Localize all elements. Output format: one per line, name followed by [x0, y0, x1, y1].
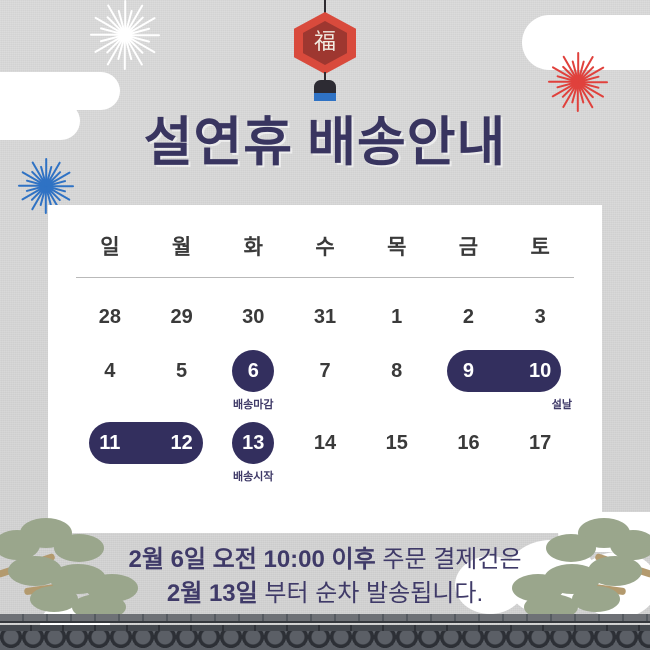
calendar-day-number: 9 [463, 360, 474, 383]
starburst-ray [124, 35, 126, 70]
calendar-day-8: 8 [361, 346, 433, 396]
calendar-day-number: 5 [176, 360, 187, 383]
calendar-day-number: 17 [529, 432, 551, 455]
calendar-day-number: 13 [242, 432, 264, 455]
poster-canvas: 福 설연휴 배송안내 일월화수목금토 28293031123456배송마감789… [0, 0, 650, 650]
calendar-day-number: 31 [314, 306, 336, 329]
calendar-day-31: 31 [289, 292, 361, 342]
fortune-character: 福 [314, 32, 336, 54]
calendar-grid: 일월화수목금토 28293031123456배송마감78910설날111213배… [48, 205, 602, 486]
calendar-day-7: 7 [289, 346, 361, 396]
calendar-number-row: 456배송마감78910설날 [74, 346, 576, 396]
calendar-day-number: 6 [248, 360, 259, 383]
roof-tile-band [0, 614, 650, 650]
calendar-day-6: 6배송마감 [217, 346, 289, 396]
calendar-date-rows: 28293031123456배송마감78910설날111213배송시작14151… [74, 292, 576, 486]
page-title: 설연휴 배송안내 [0, 100, 650, 176]
calendar-day-14: 14 [289, 418, 361, 468]
lantern-body: 福 [294, 12, 356, 74]
roof-ridge [0, 614, 650, 623]
calendar-day-number: 12 [170, 432, 192, 455]
calendar-day-number: 10 [529, 360, 551, 383]
calendar-day-note: 배송시작 [217, 468, 289, 484]
calendar-day-28: 28 [74, 292, 146, 342]
calendar-card: 일월화수목금토 28293031123456배송마감78910설날111213배… [48, 205, 602, 533]
calendar-day-number: 8 [391, 360, 402, 383]
delivery-cutoff-text: 2월 6일 오전 10:00 이후 [128, 546, 375, 573]
delivery-resume-date: 2월 13일 [167, 580, 258, 607]
calendar-day-11: 11 [74, 418, 146, 468]
calendar-day-12: 12 [146, 418, 218, 468]
calendar-day-number: 7 [319, 360, 330, 383]
calendar-number-row: 111213배송시작14151617 [74, 418, 576, 468]
calendar-weekday-2: 화 [217, 231, 289, 277]
calendar-day-number: 14 [314, 432, 336, 455]
calendar-day-15: 15 [361, 418, 433, 468]
calendar-day-9: 9 [433, 346, 505, 396]
calendar-day-16: 16 [433, 418, 505, 468]
calendar-day-number: 4 [104, 360, 115, 383]
delivery-message: 2월 6일 오전 10:00 이후 주문 결제건은 2월 13일 부터 순차 발… [0, 543, 650, 611]
calendar-divider [76, 277, 574, 278]
calendar-weekday-3: 수 [289, 231, 361, 277]
lantern-inner: 福 [303, 21, 347, 65]
calendar-day-30: 30 [217, 292, 289, 342]
delivery-order-text: 주문 결제건은 [376, 546, 522, 573]
calendar-day-4: 4 [74, 346, 146, 396]
calendar-note-spacer [74, 396, 576, 414]
calendar-weekday-row: 일월화수목금토 [74, 231, 576, 277]
calendar-weekday-4: 목 [361, 231, 433, 277]
calendar-day-10: 10설날 [504, 346, 576, 396]
calendar-day-number: 28 [99, 306, 121, 329]
calendar-week-row: 456배송마감78910설날 [74, 346, 576, 414]
calendar-day-number: 11 [99, 432, 120, 455]
calendar-day-note: 배송마감 [217, 396, 289, 412]
calendar-weekday-0: 일 [74, 231, 146, 277]
calendar-day-note: 설날 [504, 396, 576, 412]
starburst-white-top-left [90, 0, 160, 70]
calendar-day-17: 17 [504, 418, 576, 468]
calendar-number-row: 28293031123 [74, 292, 576, 342]
delivery-message-line-1: 2월 6일 오전 10:00 이후 주문 결제건은 [0, 543, 650, 577]
lantern-icon: 福 [294, 0, 356, 104]
calendar-day-1: 1 [361, 292, 433, 342]
calendar-note-spacer [74, 468, 576, 486]
calendar-week-row: 111213배송시작14151617 [74, 418, 576, 486]
calendar-day-number: 29 [170, 306, 192, 329]
calendar-weekday-6: 토 [504, 231, 576, 277]
calendar-day-number: 1 [391, 306, 402, 329]
calendar-day-number: 15 [386, 432, 408, 455]
calendar-week-row: 28293031123 [74, 292, 576, 342]
calendar-day-13: 13배송시작 [217, 418, 289, 468]
delivery-message-line-2: 2월 13일 부터 순차 발송됩니다. [0, 577, 650, 611]
calendar-day-number: 3 [535, 306, 546, 329]
calendar-day-number: 30 [242, 306, 264, 329]
calendar-day-3: 3 [504, 292, 576, 342]
calendar-day-2: 2 [433, 292, 505, 342]
calendar-day-number: 2 [463, 306, 474, 329]
delivery-resume-text: 부터 순차 발송됩니다. [258, 580, 483, 607]
calendar-weekday-5: 금 [433, 231, 505, 277]
calendar-day-29: 29 [146, 292, 218, 342]
calendar-weekday-1: 월 [146, 231, 218, 277]
calendar-day-number: 16 [457, 432, 479, 455]
calendar-day-5: 5 [146, 346, 218, 396]
roof-tiles [0, 631, 650, 650]
